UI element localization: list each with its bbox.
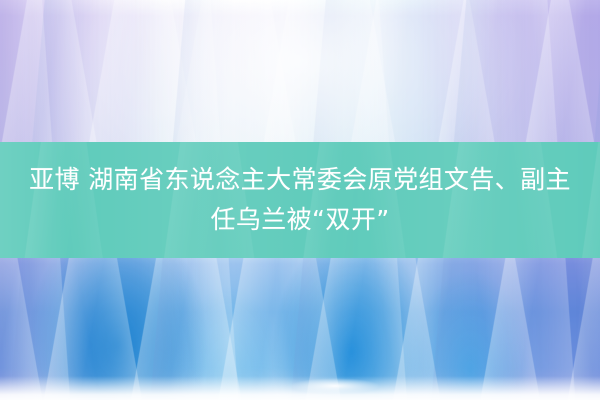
headline-line-1: 亚博 湖南省东说念主大常委会原党组文告、副主 bbox=[20, 160, 580, 200]
banner-image: 亚博 湖南省东说念主大常委会原党组文告、副主 任乌兰被“双开” bbox=[0, 0, 600, 400]
headline-line-2: 任乌兰被“双开” bbox=[20, 200, 580, 240]
headline-text: 亚博 湖南省东说念主大常委会原党组文告、副主 任乌兰被“双开” bbox=[20, 160, 580, 240]
headline-band: 亚博 湖南省东说念主大常委会原党组文告、副主 任乌兰被“双开” bbox=[0, 142, 600, 258]
